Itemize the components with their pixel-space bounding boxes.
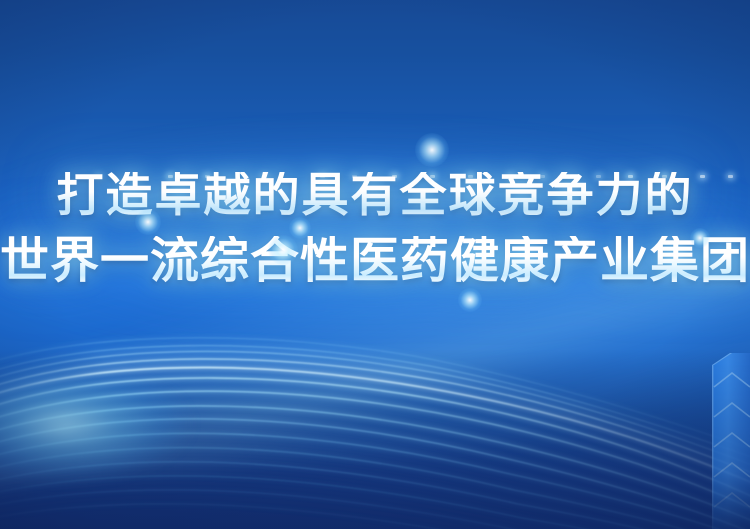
background-bottom-shade [0, 349, 750, 529]
headline-block: 打造卓越的具有全球竞争力的 世界一流综合性医药健康产业集团 [0, 172, 750, 285]
vision-banner: 打造卓越的具有全球竞争力的 世界一流综合性医药健康产业集团 [0, 0, 750, 529]
headline-line-2: 世界一流综合性医药健康产业集团 [0, 236, 750, 285]
headline-line-1: 打造卓越的具有全球竞争力的 [0, 172, 750, 219]
